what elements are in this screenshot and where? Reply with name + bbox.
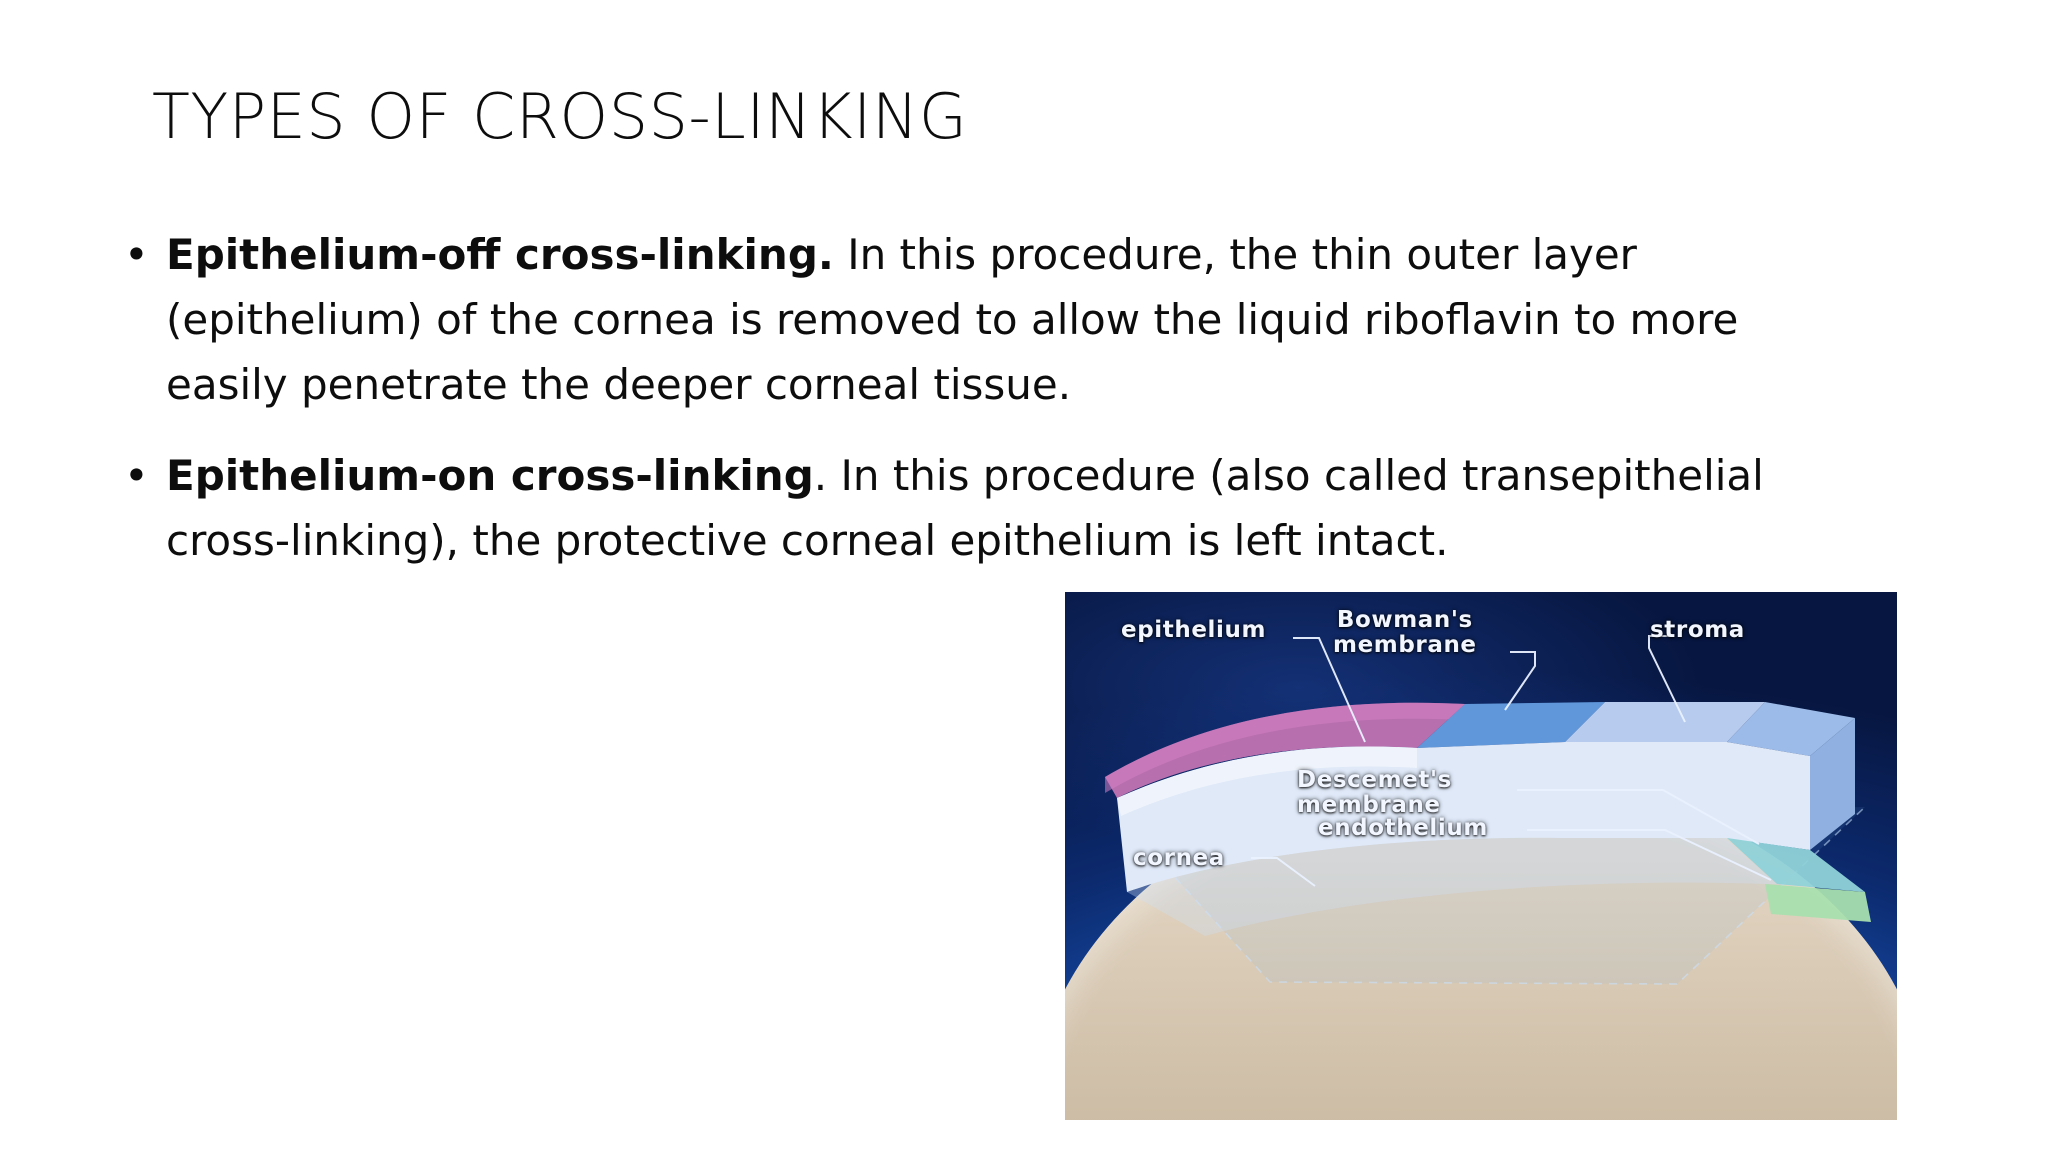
list-item: •Epithelium-off cross-linking. In this p… xyxy=(118,222,1768,417)
label-stroma: stroma xyxy=(1650,618,1745,643)
bullet-1-lead: Epithelium-off cross-linking. xyxy=(166,230,834,279)
list-item: •Epithelium-on cross-linking. In this pr… xyxy=(118,443,1768,573)
label-bowmans-membrane: Bowman's membrane xyxy=(1333,608,1477,658)
bullet-2-lead: Epithelium-on cross-linking xyxy=(166,451,814,500)
label-endothelium: endothelium xyxy=(1318,816,1488,841)
slide-canvas: TYPES OF CROSS-LINKING •Epithelium-off c… xyxy=(0,0,2048,1152)
label-descemets-membrane: Descemet's membrane xyxy=(1297,768,1452,818)
bullet-marker: • xyxy=(124,443,149,508)
label-cornea: cornea xyxy=(1133,846,1225,871)
page-title: TYPES OF CROSS-LINKING xyxy=(152,78,1892,156)
corneal-layers-image: epithelium Bowman's membrane stroma Desc… xyxy=(1065,592,1897,1120)
content-placeholder: •Epithelium-off cross-linking. In this p… xyxy=(118,222,1768,591)
label-epithelium: epithelium xyxy=(1121,618,1266,643)
bullet-marker: • xyxy=(124,222,149,287)
